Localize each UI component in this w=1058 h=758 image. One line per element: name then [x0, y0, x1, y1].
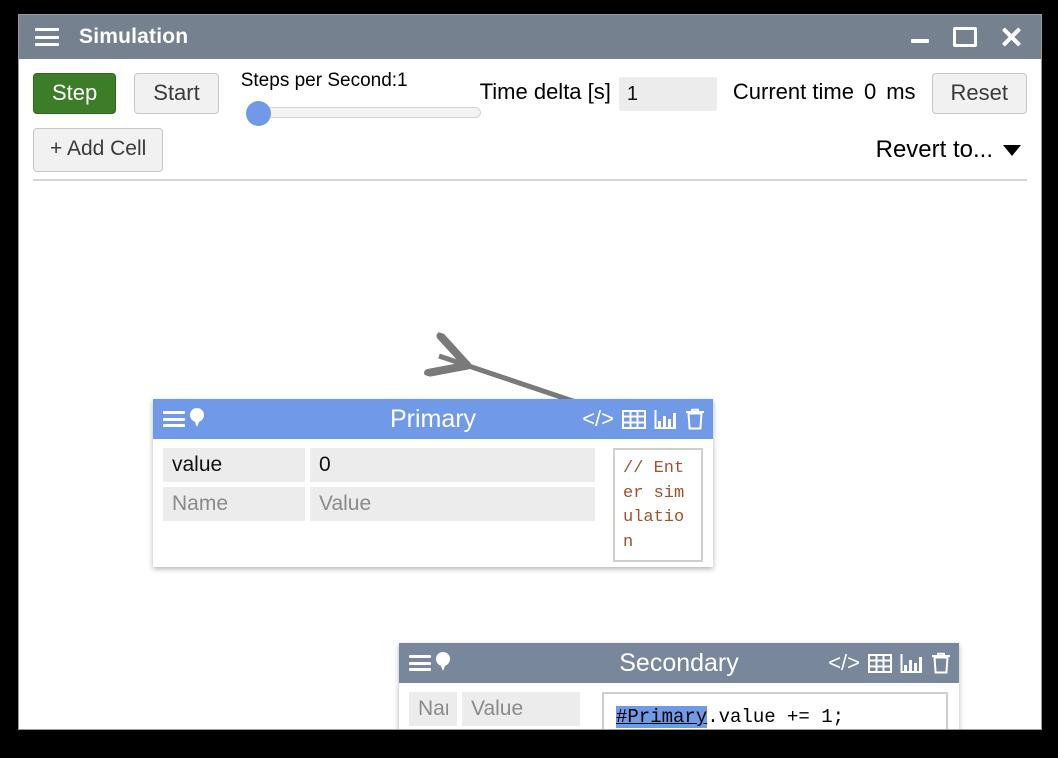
current-time-value: 0 — [864, 79, 876, 105]
field-name-input[interactable] — [163, 448, 305, 482]
hamburger-icon[interactable] — [409, 655, 431, 671]
step-button[interactable]: Step — [33, 73, 116, 114]
code-editor-secondary[interactable]: #Primary.value += 1; — [602, 692, 948, 730]
slider-track[interactable] — [259, 107, 481, 118]
bar-chart-icon[interactable] — [654, 409, 677, 430]
table-icon[interactable] — [868, 653, 892, 674]
time-delta-label: Time delta [s] — [480, 79, 611, 105]
minimize-icon[interactable] — [909, 26, 931, 48]
start-button[interactable]: Start — [134, 73, 218, 114]
code-editor-primary[interactable]: // Enter simulation — [613, 448, 703, 562]
application-window: Simulation Step Start Steps per Second:1… — [18, 14, 1042, 730]
page-title: Simulation — [79, 25, 188, 49]
cell-secondary[interactable]: Secondary </> — [399, 643, 959, 730]
cell-fields-primary — [163, 448, 595, 557]
cell-fields-secondary — [409, 692, 580, 730]
code-expression-text: .value += 1; — [707, 706, 844, 728]
hamburger-icon[interactable] — [163, 411, 185, 427]
reset-button[interactable]: Reset — [932, 73, 1027, 114]
location-pin-icon[interactable] — [189, 408, 205, 430]
field-row — [409, 692, 580, 726]
steps-per-second-label: Steps per Second:1 — [241, 71, 456, 92]
current-time-unit: ms — [886, 79, 915, 105]
steps-per-second-control: Steps per Second:1 — [241, 69, 456, 122]
cell-body-primary: // Enter simulation — [153, 439, 713, 567]
cell-header-right-icons: </> — [828, 652, 951, 674]
cell-body-secondary: #Primary.value += 1; — [399, 683, 959, 730]
toolbar-row-primary: Step Start Steps per Second:1 Time delta… — [33, 69, 1027, 121]
trash-icon[interactable] — [931, 652, 951, 674]
cell-header-left-icons — [163, 408, 205, 430]
field-name-input[interactable] — [409, 692, 457, 726]
cell-header-left-icons — [409, 652, 451, 674]
code-icon[interactable]: </> — [828, 652, 860, 674]
field-name-input[interactable] — [163, 487, 305, 521]
cell-header-right-icons: </> — [582, 408, 705, 430]
steps-per-second-slider[interactable] — [241, 102, 456, 122]
cell-header-primary[interactable]: Primary </> — [153, 399, 713, 439]
cell-primary[interactable]: Primary </> — [153, 399, 713, 567]
field-row — [163, 487, 595, 521]
field-value-input[interactable] — [310, 487, 595, 521]
current-time-label: Current time — [733, 79, 854, 105]
location-pin-icon[interactable] — [435, 652, 451, 674]
time-delta-input[interactable] — [619, 77, 717, 111]
window-controls — [909, 25, 1027, 49]
cell-header-secondary[interactable]: Secondary </> — [399, 643, 959, 683]
code-comment-text: // Enter simulation — [623, 459, 684, 552]
title-bar: Simulation — [19, 15, 1041, 59]
table-icon[interactable] — [622, 409, 646, 430]
toolbar-row-secondary: + Add Cell Revert to... — [33, 121, 1027, 179]
maximize-icon[interactable] — [953, 27, 977, 47]
revert-to-dropdown[interactable]: Revert to... — [876, 136, 1027, 164]
code-icon[interactable]: </> — [582, 408, 614, 430]
code-cell-reference: #Primary — [616, 706, 707, 728]
trash-icon[interactable] — [685, 408, 705, 430]
toolbar: Step Start Steps per Second:1 Time delta… — [19, 59, 1041, 179]
field-value-input[interactable] — [462, 692, 580, 726]
close-icon[interactable] — [999, 25, 1023, 49]
hamburger-icon[interactable] — [35, 28, 59, 46]
field-value-input[interactable] — [310, 448, 595, 482]
revert-to-label: Revert to... — [876, 136, 993, 164]
chevron-down-icon — [1003, 145, 1021, 156]
field-row — [163, 448, 595, 482]
bar-chart-icon[interactable] — [900, 653, 923, 674]
add-cell-button[interactable]: + Add Cell — [33, 128, 163, 172]
simulation-canvas[interactable]: Primary </> — [19, 181, 1041, 701]
